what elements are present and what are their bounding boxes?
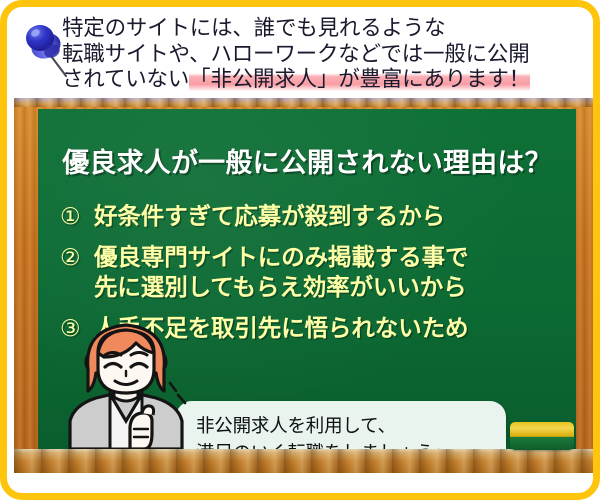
header-line-3: されていない「非公開求人」が豊富にあります！	[62, 67, 600, 93]
smiling-businesswoman-illustration	[52, 317, 200, 449]
outer-frame: 特定のサイトには、誰でも見れるような 転職サイトや、ハローワークなどでは一般に公…	[0, 0, 600, 500]
header-intro-text: 特定のサイトには、誰でも見れるような 転職サイトや、ハローワークなどでは一般に公…	[62, 16, 600, 93]
chalk-eraser	[510, 422, 574, 450]
list-item-line: 好条件すぎて応募が殺到するから	[94, 201, 445, 231]
blackboard-ledge	[14, 449, 600, 473]
list-item: ② 優良専門サイトにのみ掲載する事で 先に選別してもらえ効率がいいから	[60, 242, 560, 302]
header-band: 特定のサイトには、誰でも見れるような 転職サイトや、ハローワークなどでは一般に公…	[14, 14, 600, 98]
header-highlighted-phrase: 「非公開求人」が豊富にあります！	[189, 67, 530, 91]
list-item-body: 好条件すぎて応募が殺到するから	[94, 201, 445, 231]
list-item-number: ②	[60, 242, 94, 272]
list-item-line: 優良専門サイトにのみ掲載する事で	[94, 242, 468, 272]
speech-line-1: 非公開求人を利用して、	[196, 412, 443, 439]
blackboard-surface: 優良求人が一般に公開されない理由は？ ① 好条件すぎて応募が殺到するから ② 優…	[38, 109, 576, 449]
header-line-2: 転職サイトや、ハローワークなどでは一般に公開	[62, 42, 600, 68]
blackboard-wooden-frame: 優良求人が一般に公開されない理由は？ ① 好条件すぎて応募が殺到するから ② 優…	[14, 98, 600, 473]
board-title: 優良求人が一般に公開されない理由は？	[50, 141, 564, 180]
speech-line-2: 満足のいく転職をしましょう♪	[196, 439, 443, 449]
header-line-3-plain: されていない	[62, 67, 189, 91]
list-item-body: 優良専門サイトにのみ掲載する事で 先に選別してもらえ効率がいいから	[94, 242, 468, 302]
speech-bubble: 非公開求人を利用して、 満足のいく転職をしましょう♪	[176, 401, 506, 449]
header-line-1: 特定のサイトには、誰でも見れるような	[62, 16, 600, 42]
list-item-number: ①	[60, 201, 94, 231]
speech-bubble-text: 非公開求人を利用して、 満足のいく転職をしましょう♪	[196, 412, 443, 449]
list-item-line: 先に選別してもらえ効率がいいから	[94, 272, 468, 302]
list-item: ① 好条件すぎて応募が殺到するから	[60, 201, 560, 231]
